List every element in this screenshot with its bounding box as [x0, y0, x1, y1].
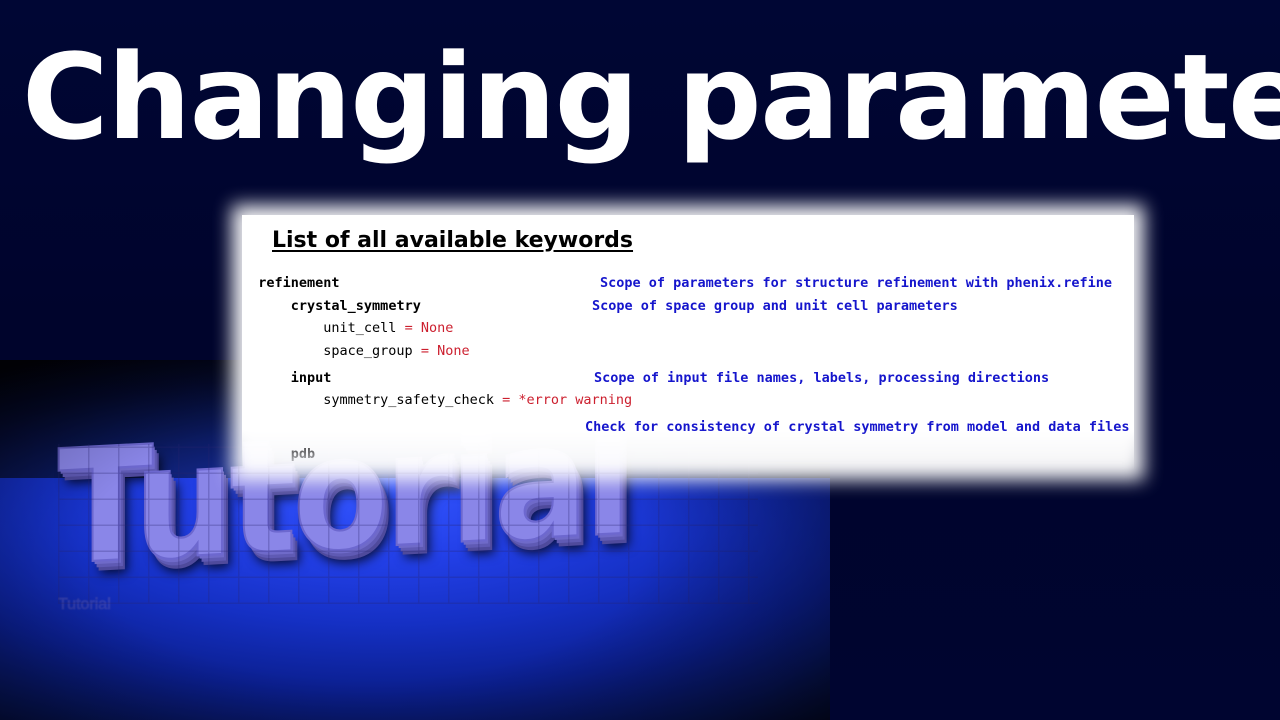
keyword-line: file_name = NoneModel file(s) name (PDB): [242, 466, 1134, 471]
keyword-entry: space_group = None: [242, 340, 470, 363]
tutorial-word-reflection: Tutorial: [58, 596, 758, 720]
keyword-line: space_group = None: [242, 340, 1134, 367]
indent: [242, 320, 323, 336]
scope-name: input: [291, 370, 332, 386]
parameter-name: symmetry_safety_check: [323, 392, 494, 408]
keyword-line: unit_cell = None: [242, 317, 1134, 340]
slide-title: Changing parameters: [22, 36, 1262, 159]
keyword-entry: unit_cell = None: [242, 317, 453, 340]
scope-name: pdb: [291, 446, 315, 462]
keyword-line: refinementScope of parameters for struct…: [242, 272, 1134, 295]
keyword-line: inputScope of input file names, labels, …: [242, 367, 1134, 390]
indent: [242, 298, 291, 314]
keyword-entry: input: [242, 367, 331, 390]
parameter-value: *error warning: [518, 392, 632, 408]
assignment-operator: =: [413, 343, 437, 359]
slide-root: Tutorial Tutorial Changing parameters Li…: [0, 0, 1280, 720]
keyword-entry: crystal_symmetry: [242, 295, 421, 318]
parameter-name: space_group: [323, 343, 412, 359]
indent: [242, 469, 340, 471]
assignment-operator: =: [494, 392, 518, 408]
parameter-value: None: [421, 320, 454, 336]
scope-name: refinement: [258, 275, 339, 291]
keyword-line: crystal_symmetryScope of space group and…: [242, 295, 1134, 318]
keyword-list: refinementScope of parameters for struct…: [242, 272, 1134, 470]
assignment-operator: =: [413, 469, 437, 471]
scope-name: crystal_symmetry: [291, 298, 421, 314]
parameter-description: Model file(s) name (PDB): [588, 466, 783, 471]
indent: [242, 392, 323, 408]
parameter-description: Scope of space group and unit cell param…: [592, 295, 958, 318]
keyword-entry: symmetry_safety_check = *error warning: [242, 389, 632, 412]
parameter-description: Scope of parameters for structure refine…: [600, 272, 1112, 295]
parameter-value: None: [437, 469, 470, 471]
keyword-entry: pdb: [242, 443, 315, 466]
indent: [242, 343, 323, 359]
parameter-name: file_name: [340, 469, 413, 471]
keyword-line: symmetry_safety_check = *error warning: [242, 389, 1134, 416]
parameter-value: None: [437, 343, 470, 359]
indent: [242, 275, 258, 291]
keyword-entry: file_name = None: [242, 466, 470, 471]
parameter-description: Scope of input file names, labels, proce…: [594, 367, 1049, 390]
keyword-panel: List of all available keywords refinemen…: [232, 205, 1144, 480]
parameter-name: unit_cell: [323, 320, 396, 336]
indent: [242, 370, 291, 386]
indent: [242, 446, 291, 462]
panel-surface: List of all available keywords refinemen…: [242, 215, 1134, 470]
assignment-operator: =: [396, 320, 420, 336]
keyword-entry: refinement: [242, 272, 340, 295]
panel-heading: List of all available keywords: [272, 228, 633, 253]
keyword-line: pdb: [242, 443, 1134, 466]
keyword-line: Check for consistency of crystal symmetr…: [242, 416, 1134, 443]
parameter-description: Check for consistency of crystal symmetr…: [585, 416, 1130, 439]
